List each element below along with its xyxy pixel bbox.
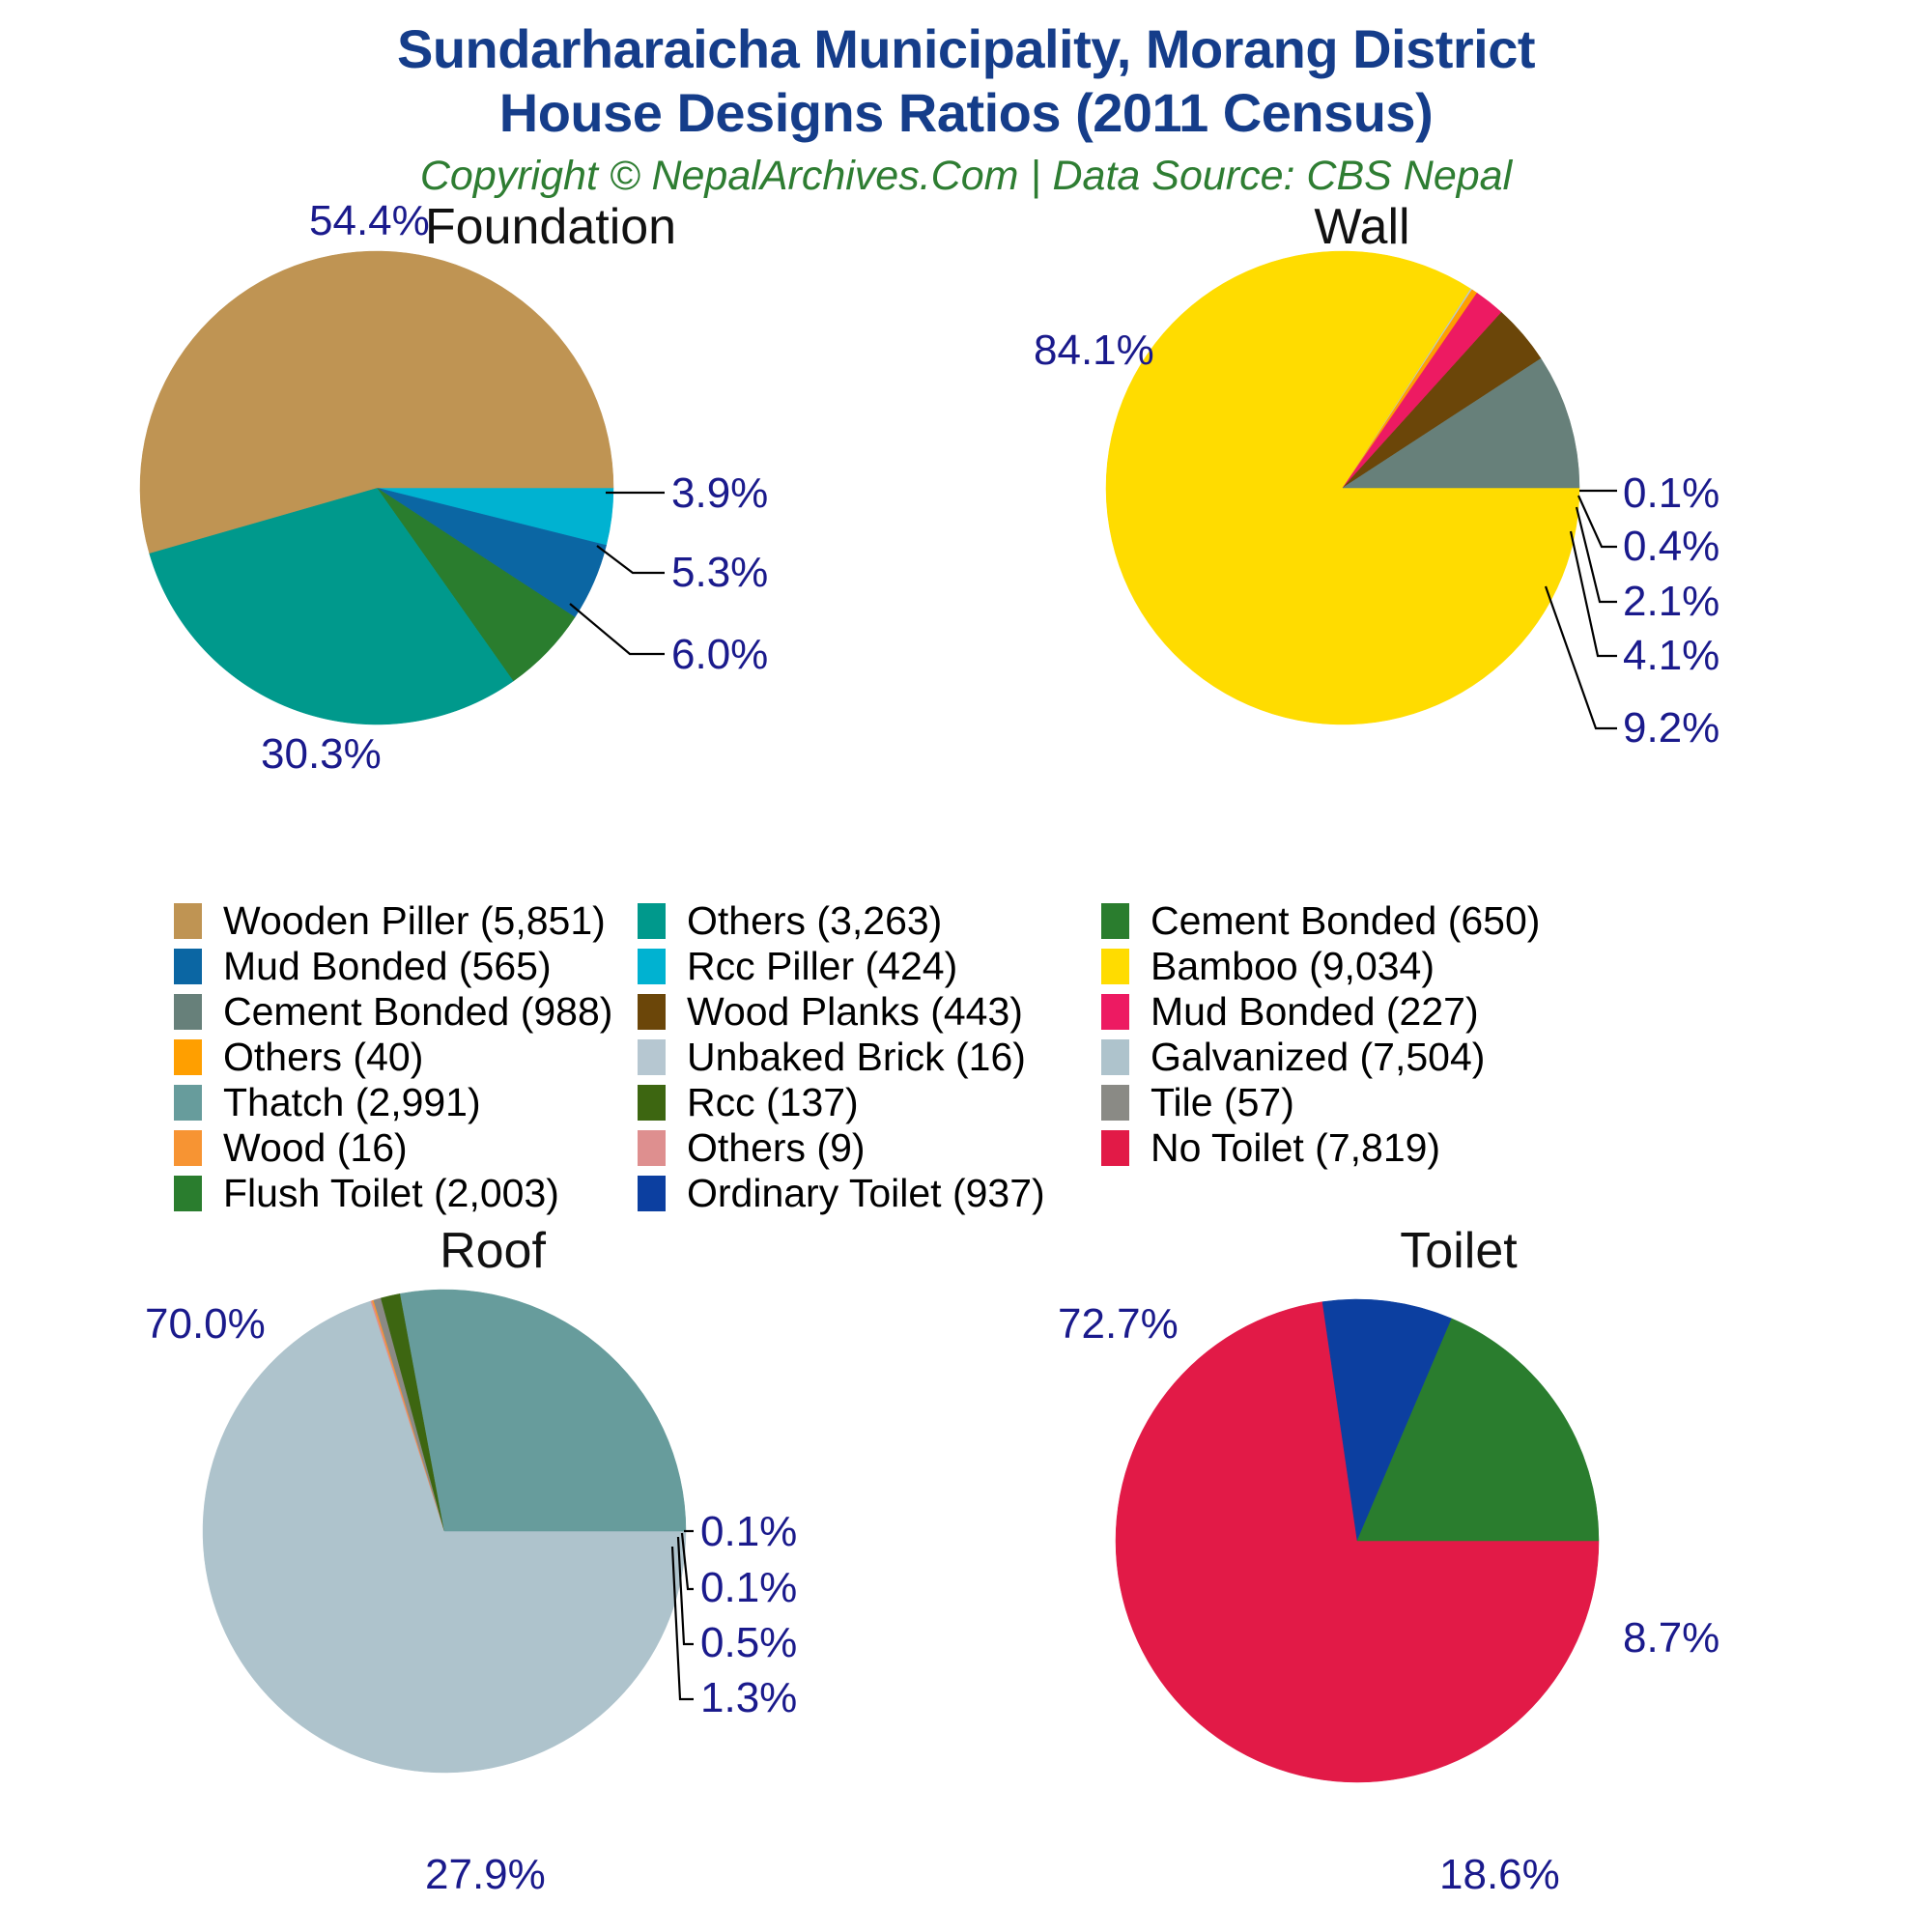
legend-swatch-icon [174, 1176, 202, 1211]
pie-percent-label: 0.5% [700, 1619, 797, 1666]
pie-percent-label: 6.0% [671, 631, 768, 678]
legend-item-label: Mud Bonded (565) [223, 944, 552, 989]
pie-leader-line [1571, 531, 1617, 656]
pie-leader-line [597, 546, 665, 573]
page-subtitle: Copyright © NepalArchives.Com | Data Sou… [0, 152, 1932, 202]
legend-item-label: Bamboo (9,034) [1151, 944, 1435, 989]
legend-item[interactable]: Cement Bonded (650) [1101, 898, 1604, 944]
legend-item-label: No Toilet (7,819) [1151, 1125, 1440, 1171]
legend-item-label: Cement Bonded (650) [1151, 898, 1540, 944]
panel-toilet: Toilet 72.7%8.7%18.6% [1024, 1232, 1874, 1908]
pie-percent-label: 18.6% [1439, 1851, 1560, 1898]
legend-swatch-icon [174, 1085, 202, 1121]
legend-swatch-icon [1101, 1085, 1129, 1121]
legend-item-label: Others (3,263) [687, 898, 942, 944]
legend-item-label: Wood (16) [223, 1125, 408, 1171]
legend-swatch-icon [638, 903, 666, 939]
page-title-line-2: House Designs Ratios (2011 Census) [0, 81, 1932, 145]
legend-item[interactable]: Flush Toilet (2,003) [174, 1171, 638, 1216]
legend-swatch-icon [638, 1176, 666, 1211]
legend-item-label: Others (40) [223, 1035, 423, 1080]
legend-swatch-icon [1101, 903, 1129, 939]
legend-item[interactable]: Cement Bonded (988) [174, 989, 638, 1035]
legend-item-label: Thatch (2,991) [223, 1080, 481, 1125]
legend-item[interactable]: Wood (16) [174, 1125, 638, 1171]
pie-percent-label: 2.1% [1623, 578, 1719, 625]
legend-swatch-icon [638, 994, 666, 1030]
legend-item-label: Galvanized (7,504) [1151, 1035, 1485, 1080]
pie-percent-label: 8.7% [1623, 1614, 1719, 1662]
legend-item[interactable]: Wood Planks (443) [638, 989, 1101, 1035]
legend-item[interactable]: Galvanized (7,504) [1101, 1035, 1604, 1080]
legend-swatch-icon [1101, 1039, 1129, 1075]
legend-item[interactable]: Mud Bonded (565) [174, 944, 638, 989]
legend-item-label: Unbaked Brick (16) [687, 1035, 1026, 1080]
legend-item-label: Rcc Piller (424) [687, 944, 957, 989]
legend-item[interactable]: Others (40) [174, 1035, 638, 1080]
pie-percent-label: 4.1% [1623, 632, 1719, 679]
legend-swatch-icon [638, 1130, 666, 1166]
legend-item-label: Flush Toilet (2,003) [223, 1171, 559, 1216]
pie-percent-label: 84.1% [1034, 327, 1154, 374]
pie-percent-label: 3.9% [671, 469, 768, 517]
legend-item[interactable]: Tile (57) [1101, 1080, 1604, 1125]
chart-page: Sundarharaicha Municipality, Morang Dist… [0, 0, 1932, 1932]
legend-item-label: Cement Bonded (988) [223, 989, 612, 1035]
legend-item[interactable] [1101, 1171, 1604, 1216]
legend-item[interactable]: Thatch (2,991) [174, 1080, 638, 1125]
pie-percent-label: 0.1% [700, 1508, 797, 1555]
legend-item-label: Others (9) [687, 1125, 866, 1171]
pie-chart-foundation: 54.4%30.3%3.9%5.3%6.0% [135, 217, 966, 894]
legend-item-label: Ordinary Toilet (937) [687, 1171, 1045, 1216]
pie-percent-label: 72.7% [1058, 1300, 1179, 1348]
pie-leader-line [570, 604, 665, 654]
legend-item-label: Mud Bonded (227) [1151, 989, 1479, 1035]
panel-roof: Roof 70.0%27.9%0.1%0.1%0.5%1.3% [135, 1232, 966, 1908]
legend-item[interactable]: Mud Bonded (227) [1101, 989, 1604, 1035]
legend-item[interactable]: Wooden Piller (5,851) [174, 898, 638, 944]
panel-wall: Wall 84.1%0.1%0.4%2.1%4.1%9.2% [1024, 217, 1874, 894]
legend-item-label: Wood Planks (443) [687, 989, 1023, 1035]
legend-swatch-icon [638, 1039, 666, 1075]
legend-item-label: Tile (57) [1151, 1080, 1294, 1125]
legend-item-label: Rcc (137) [687, 1080, 859, 1125]
pie-percent-label: 0.4% [1623, 523, 1719, 570]
pie-percent-label: 0.1% [1623, 469, 1719, 517]
pie-chart-roof: 70.0%27.9%0.1%0.1%0.5%1.3% [135, 1232, 966, 1908]
legend-swatch-icon [174, 903, 202, 939]
legend-item[interactable]: Ordinary Toilet (937) [638, 1171, 1101, 1216]
pie-leader-line [1546, 586, 1617, 728]
panel-foundation: Foundation 54.4%30.3%3.9%5.3%6.0% [135, 217, 966, 894]
chart-legend: Wooden Piller (5,851)Others (3,263)Cemen… [174, 898, 1777, 1216]
legend-item[interactable]: Bamboo (9,034) [1101, 944, 1604, 989]
pie-chart-toilet: 72.7%8.7%18.6% [1024, 1232, 1874, 1908]
pie-percent-label: 9.2% [1623, 704, 1719, 752]
pie-percent-label: 1.3% [700, 1674, 797, 1721]
legend-swatch-icon [638, 949, 666, 984]
legend-swatch-icon [1101, 994, 1129, 1030]
pie-percent-label: 54.4% [309, 197, 430, 244]
pie-percent-label: 0.1% [700, 1564, 797, 1611]
legend-swatch-icon [1101, 1130, 1129, 1166]
pie-percent-label: 30.3% [261, 730, 382, 778]
pie-chart-wall: 84.1%0.1%0.4%2.1%4.1%9.2% [1024, 217, 1874, 894]
legend-item[interactable]: Others (9) [638, 1125, 1101, 1171]
legend-item[interactable]: Rcc Piller (424) [638, 944, 1101, 989]
legend-item[interactable]: Rcc (137) [638, 1080, 1101, 1125]
pie-percent-label: 27.9% [425, 1851, 546, 1898]
legend-swatch-icon [174, 1039, 202, 1075]
header-block: Sundarharaicha Municipality, Morang Dist… [0, 17, 1932, 202]
legend-swatch-icon [174, 949, 202, 984]
legend-swatch-icon [638, 1085, 666, 1121]
pie-slice[interactable] [400, 1290, 686, 1531]
legend-item[interactable]: No Toilet (7,819) [1101, 1125, 1604, 1171]
legend-item[interactable]: Others (3,263) [638, 898, 1101, 944]
legend-swatch-icon [174, 1130, 202, 1166]
pie-percent-label: 5.3% [671, 549, 768, 596]
legend-swatch-icon [174, 994, 202, 1030]
legend-swatch-icon [1101, 949, 1129, 984]
page-title-line-1: Sundarharaicha Municipality, Morang Dist… [0, 17, 1932, 81]
legend-item-label: Wooden Piller (5,851) [223, 898, 606, 944]
pie-percent-label: 70.0% [145, 1300, 266, 1348]
legend-item[interactable]: Unbaked Brick (16) [638, 1035, 1101, 1080]
